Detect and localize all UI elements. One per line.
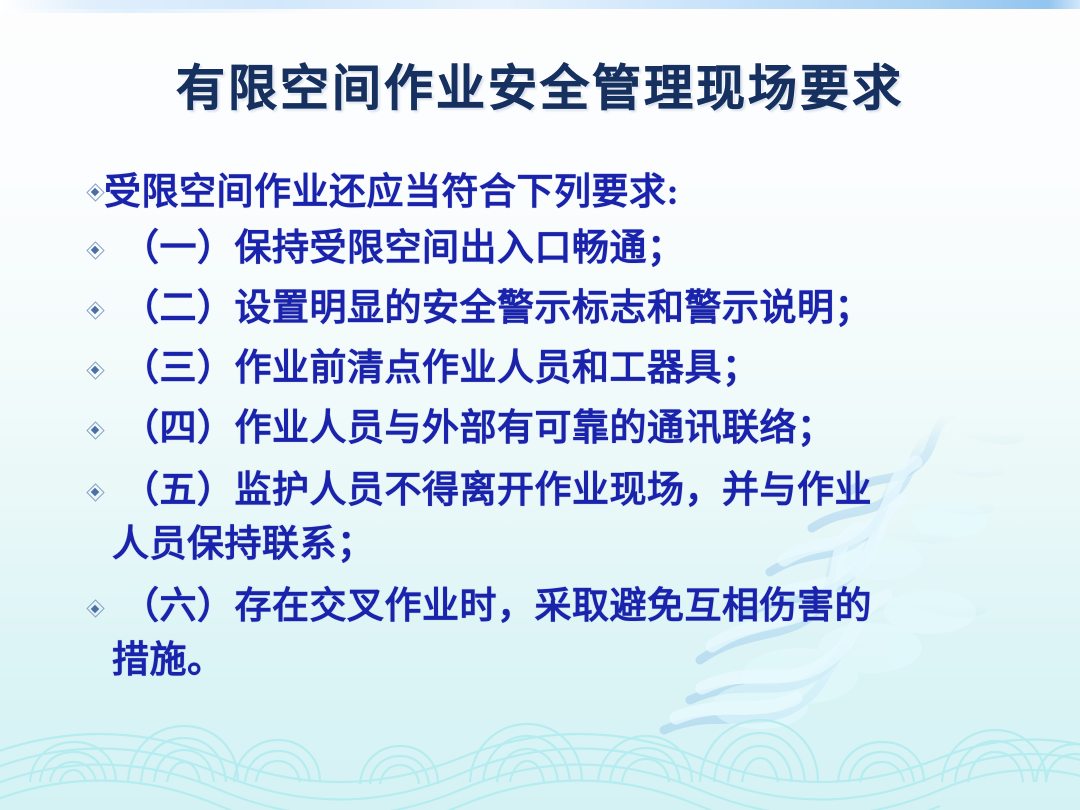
list-item-text: （三）作业前清点作业人员和工器具；: [92, 342, 1080, 396]
top-decorative-band-secondary: [0, 9, 320, 13]
diamond-bullet-icon: [89, 244, 105, 260]
list-item-text: （二）设置明显的安全警示标志和警示说明；: [92, 282, 1080, 336]
list-item-wrapped-text: 措施。: [92, 634, 1080, 688]
list-item-text: （四）作业人员与外部有可靠的通讯联络；: [92, 402, 1080, 456]
list-item: （一）保持受限空间出入口畅通；: [0, 222, 1080, 276]
diamond-bullet-icon: [89, 304, 105, 320]
presentation-slide: 有限空间作业安全管理现场要求 受限空间作业还应当符合下列要求: （一）保持受限空…: [0, 0, 1080, 810]
list-item: （三）作业前清点作业人员和工器具；: [0, 342, 1080, 396]
bullet-list: 受限空间作业还应当符合下列要求: （一）保持受限空间出入口畅通； （二）设置明显…: [0, 166, 1080, 688]
diamond-bullet-icon: [89, 602, 105, 618]
list-item-text: 受限空间作业还应当符合下列要求:: [92, 166, 1080, 220]
diamond-bullet-icon: [89, 186, 105, 202]
list-item: （二）设置明显的安全警示标志和警示说明；: [0, 282, 1080, 336]
diamond-bullet-icon: [89, 424, 105, 440]
title-container: 有限空间作业安全管理现场要求: [0, 62, 1080, 117]
diamond-bullet-icon: [89, 364, 105, 380]
list-item: （六）存在交叉作业时，采取避免互相伤害的 措施。: [0, 580, 1080, 688]
slide-title: 有限空间作业安全管理现场要求: [176, 62, 904, 117]
list-item: 受限空间作业还应当符合下列要求:: [0, 166, 1080, 220]
list-item-text: （五）监护人员不得离开作业现场，并与作业: [92, 464, 1080, 518]
wave-crests: [30, 720, 1080, 784]
chinese-wave-pattern: [0, 734, 1080, 810]
list-item: （五）监护人员不得离开作业现场，并与作业 人员保持联系；: [0, 464, 1080, 572]
list-item-text: （六）存在交叉作业时，采取避免互相伤害的: [92, 580, 1080, 634]
list-item-text: （一）保持受限空间出入口畅通；: [92, 222, 1080, 276]
diamond-bullet-icon: [89, 486, 105, 502]
top-decorative-band: [0, 0, 1080, 9]
list-item-wrapped-text: 人员保持联系；: [92, 518, 1080, 572]
list-item: （四）作业人员与外部有可靠的通讯联络；: [0, 402, 1080, 456]
